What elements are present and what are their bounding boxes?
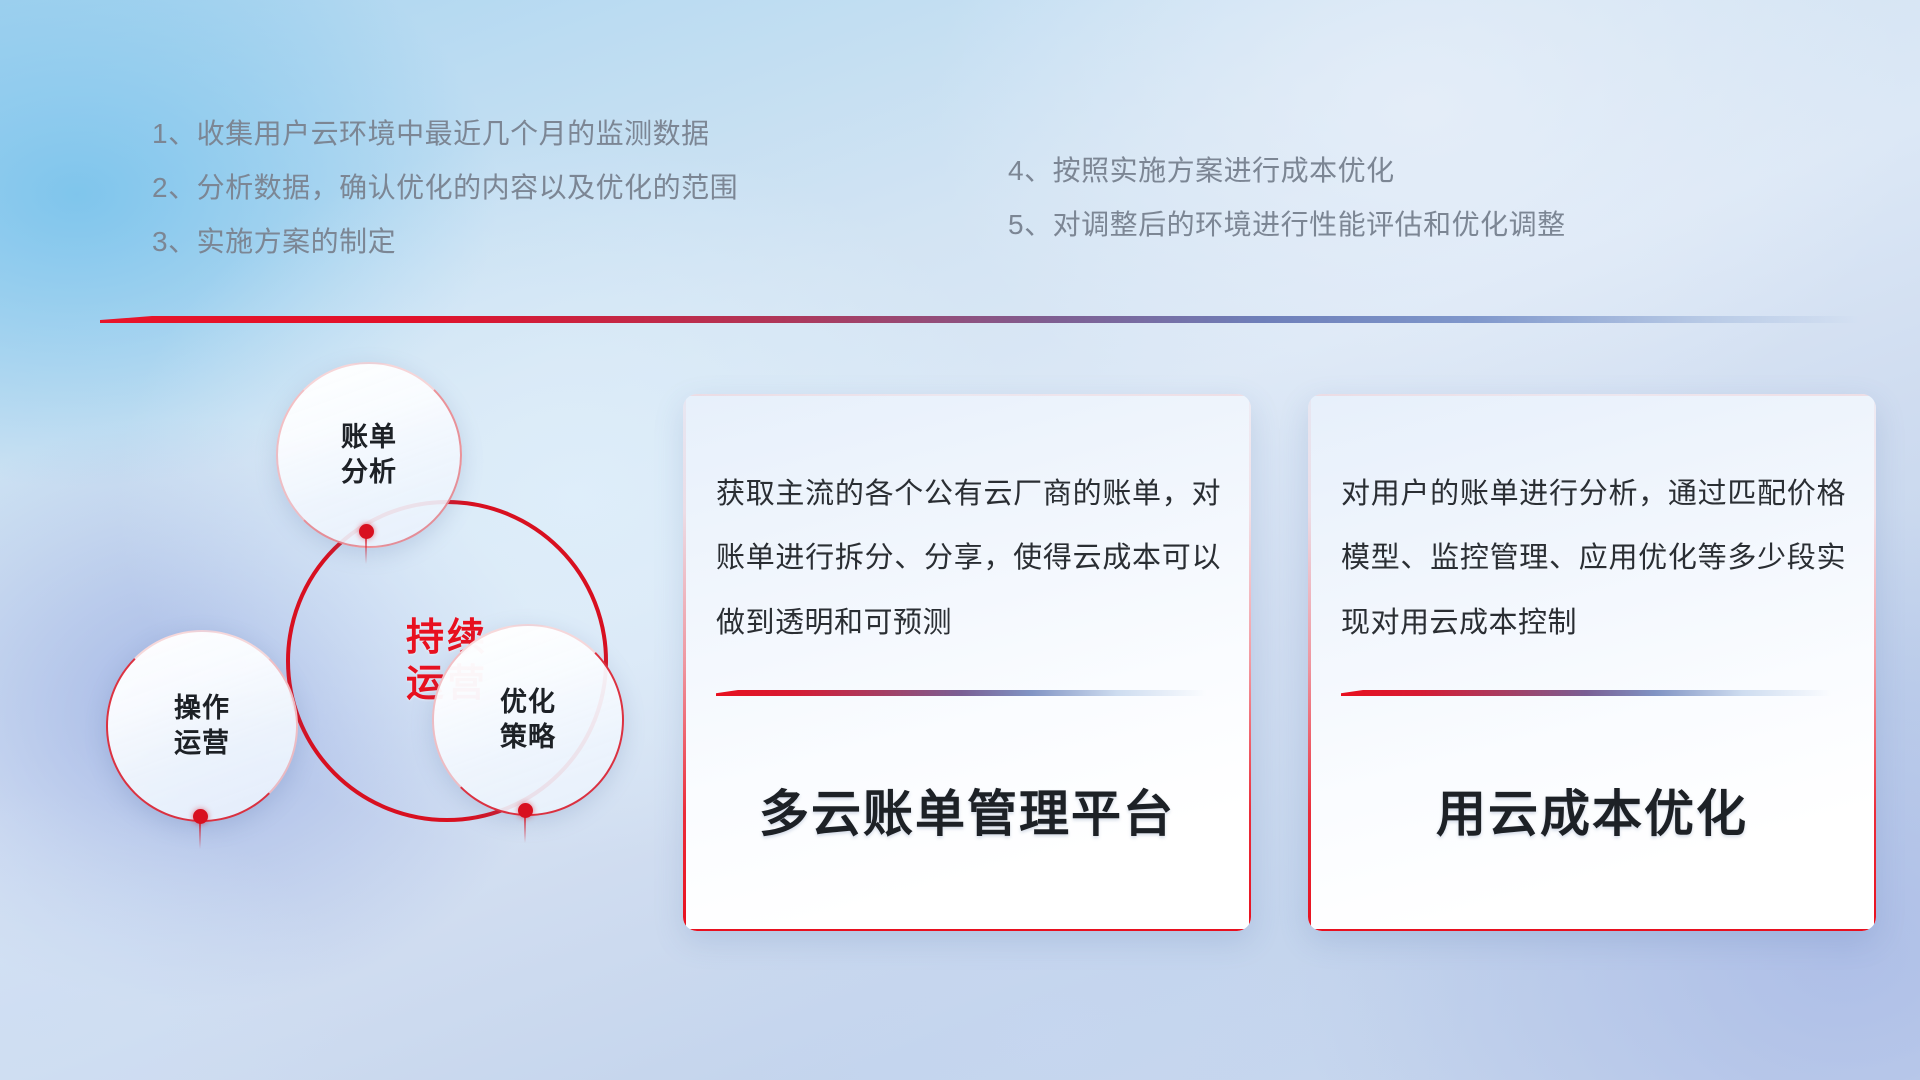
process-step-4: 4、按照实施方案进行成本优化 bbox=[1008, 157, 1566, 185]
process-step-1: 1、收集用户云环境中最近几个月的监测数据 bbox=[152, 120, 738, 148]
process-step-5: 5、对调整后的环境进行性能评估和优化调整 bbox=[1008, 211, 1566, 239]
diagram-node-dot-bottom-left bbox=[193, 809, 208, 824]
section-divider-bar bbox=[100, 316, 1860, 323]
diagram-node-tail-bottom-left bbox=[199, 823, 201, 849]
diagram-node-bill-analysis[interactable]: 账单 分析 bbox=[276, 362, 462, 548]
card-description: 对用户的账单进行分析，通过匹配价格模型、监控管理、应用优化等多少段实现对用云成本… bbox=[1341, 462, 1846, 655]
diagram-node-bill-analysis-line2: 分析 bbox=[341, 455, 397, 490]
diagram-node-operations[interactable]: 操作 运营 bbox=[106, 630, 298, 822]
card-border-top bbox=[683, 394, 1251, 396]
diagram-node-operations-line2: 运营 bbox=[174, 726, 230, 761]
diagram-node-operations-line1: 操作 bbox=[174, 691, 230, 726]
card-border-bottom bbox=[1308, 929, 1876, 932]
card-title: 用云成本优化 bbox=[1308, 774, 1876, 846]
diagram-node-dot-top bbox=[359, 524, 374, 539]
card-accent-rule bbox=[716, 690, 1206, 696]
feature-card-multicloud-billing[interactable]: 获取主流的各个公有云厂商的账单，对账单进行拆分、分享，使得云成本可以做到透明和可… bbox=[683, 394, 1251, 931]
diagram-node-bill-analysis-line1: 账单 bbox=[341, 420, 397, 455]
process-step-2: 2、分析数据，确认优化的内容以及优化的范围 bbox=[152, 174, 738, 202]
card-border-right bbox=[1249, 394, 1252, 931]
diagram-node-optimization-strategy-line2: 策略 bbox=[500, 720, 556, 755]
card-border-left bbox=[1308, 394, 1311, 931]
card-border-top bbox=[1308, 394, 1876, 396]
continuous-operation-diagram: 持续 运营 账单 分析 操作 运营 优化 策略 bbox=[100, 352, 660, 952]
slide-canvas: 1、收集用户云环境中最近几个月的监测数据 2、分析数据，确认优化的内容以及优化的… bbox=[0, 0, 1920, 1080]
diagram-node-optimization-strategy[interactable]: 优化 策略 bbox=[432, 624, 624, 816]
diagram-node-dot-bottom-right bbox=[518, 803, 533, 818]
process-steps-right-column: 4、按照实施方案进行成本优化 5、对调整后的环境进行性能评估和优化调整 bbox=[1008, 157, 1566, 239]
card-border-left bbox=[683, 394, 686, 931]
section-divider bbox=[100, 316, 1860, 323]
card-description: 获取主流的各个公有云厂商的账单，对账单进行拆分、分享，使得云成本可以做到透明和可… bbox=[716, 462, 1221, 655]
process-step-3: 3、实施方案的制定 bbox=[152, 228, 738, 256]
feature-card-cloud-cost-optimization[interactable]: 对用户的账单进行分析，通过匹配价格模型、监控管理、应用优化等多少段实现对用云成本… bbox=[1308, 394, 1876, 931]
process-steps-left-column: 1、收集用户云环境中最近几个月的监测数据 2、分析数据，确认优化的内容以及优化的… bbox=[152, 120, 738, 256]
card-border-bottom bbox=[683, 929, 1251, 932]
diagram-node-optimization-strategy-line1: 优化 bbox=[500, 685, 556, 720]
diagram-node-tail-bottom-right bbox=[524, 817, 526, 843]
card-border-right bbox=[1874, 394, 1877, 931]
card-accent-rule bbox=[1341, 690, 1831, 696]
card-title: 多云账单管理平台 bbox=[683, 774, 1251, 846]
diagram-node-tail-top bbox=[365, 538, 367, 564]
